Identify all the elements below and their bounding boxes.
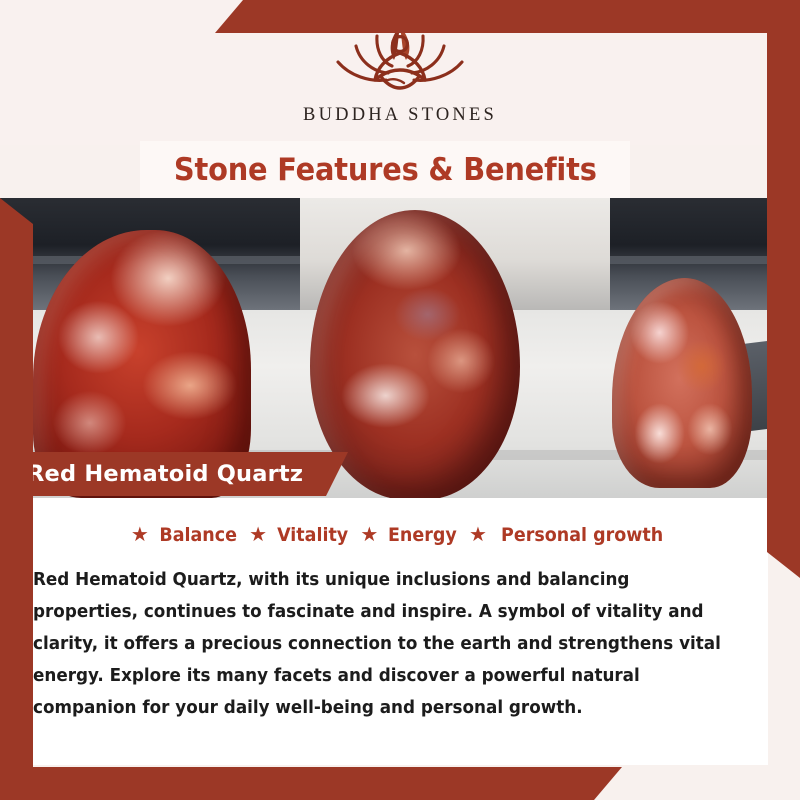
benefit-item: ★ Energy bbox=[360, 524, 460, 546]
product-name: Red Hematoid Quartz bbox=[27, 461, 303, 487]
benefit-label: Balance bbox=[159, 524, 237, 546]
frame-border-bottom bbox=[0, 767, 622, 800]
content-panel: ★ Balance ★ Vitality ★ Energy ★ Personal… bbox=[33, 498, 768, 765]
poster-root: BUDDHA STONES Stone Features & Benefits … bbox=[0, 0, 800, 800]
product-name-banner: Red Hematoid Quartz bbox=[0, 452, 348, 496]
star-icon: ★ bbox=[360, 525, 378, 545]
title-banner: Stone Features & Benefits bbox=[140, 141, 630, 198]
frame-border-left bbox=[0, 198, 33, 800]
benefit-label: Vitality bbox=[277, 524, 348, 546]
star-icon: ★ bbox=[131, 525, 149, 545]
benefit-item: ★ Vitality bbox=[249, 524, 351, 546]
benefit-label: Personal growth bbox=[501, 524, 663, 546]
page-title: Stone Features & Benefits bbox=[174, 152, 597, 188]
star-icon: ★ bbox=[469, 525, 487, 545]
benefit-label: Energy bbox=[388, 524, 457, 546]
brand-name: BUDDHA STONES bbox=[303, 105, 497, 126]
frame-border-top bbox=[215, 0, 800, 33]
star-icon: ★ bbox=[249, 525, 267, 545]
benefit-item: ★ Balance bbox=[131, 524, 240, 546]
description-paragraph: Red Hematoid Quartz, with its unique inc… bbox=[33, 564, 734, 724]
benefits-row: ★ Balance ★ Vitality ★ Energy ★ Personal… bbox=[33, 524, 768, 546]
benefit-item: ★ Personal growth bbox=[469, 524, 670, 546]
frame-border-right bbox=[767, 0, 800, 578]
